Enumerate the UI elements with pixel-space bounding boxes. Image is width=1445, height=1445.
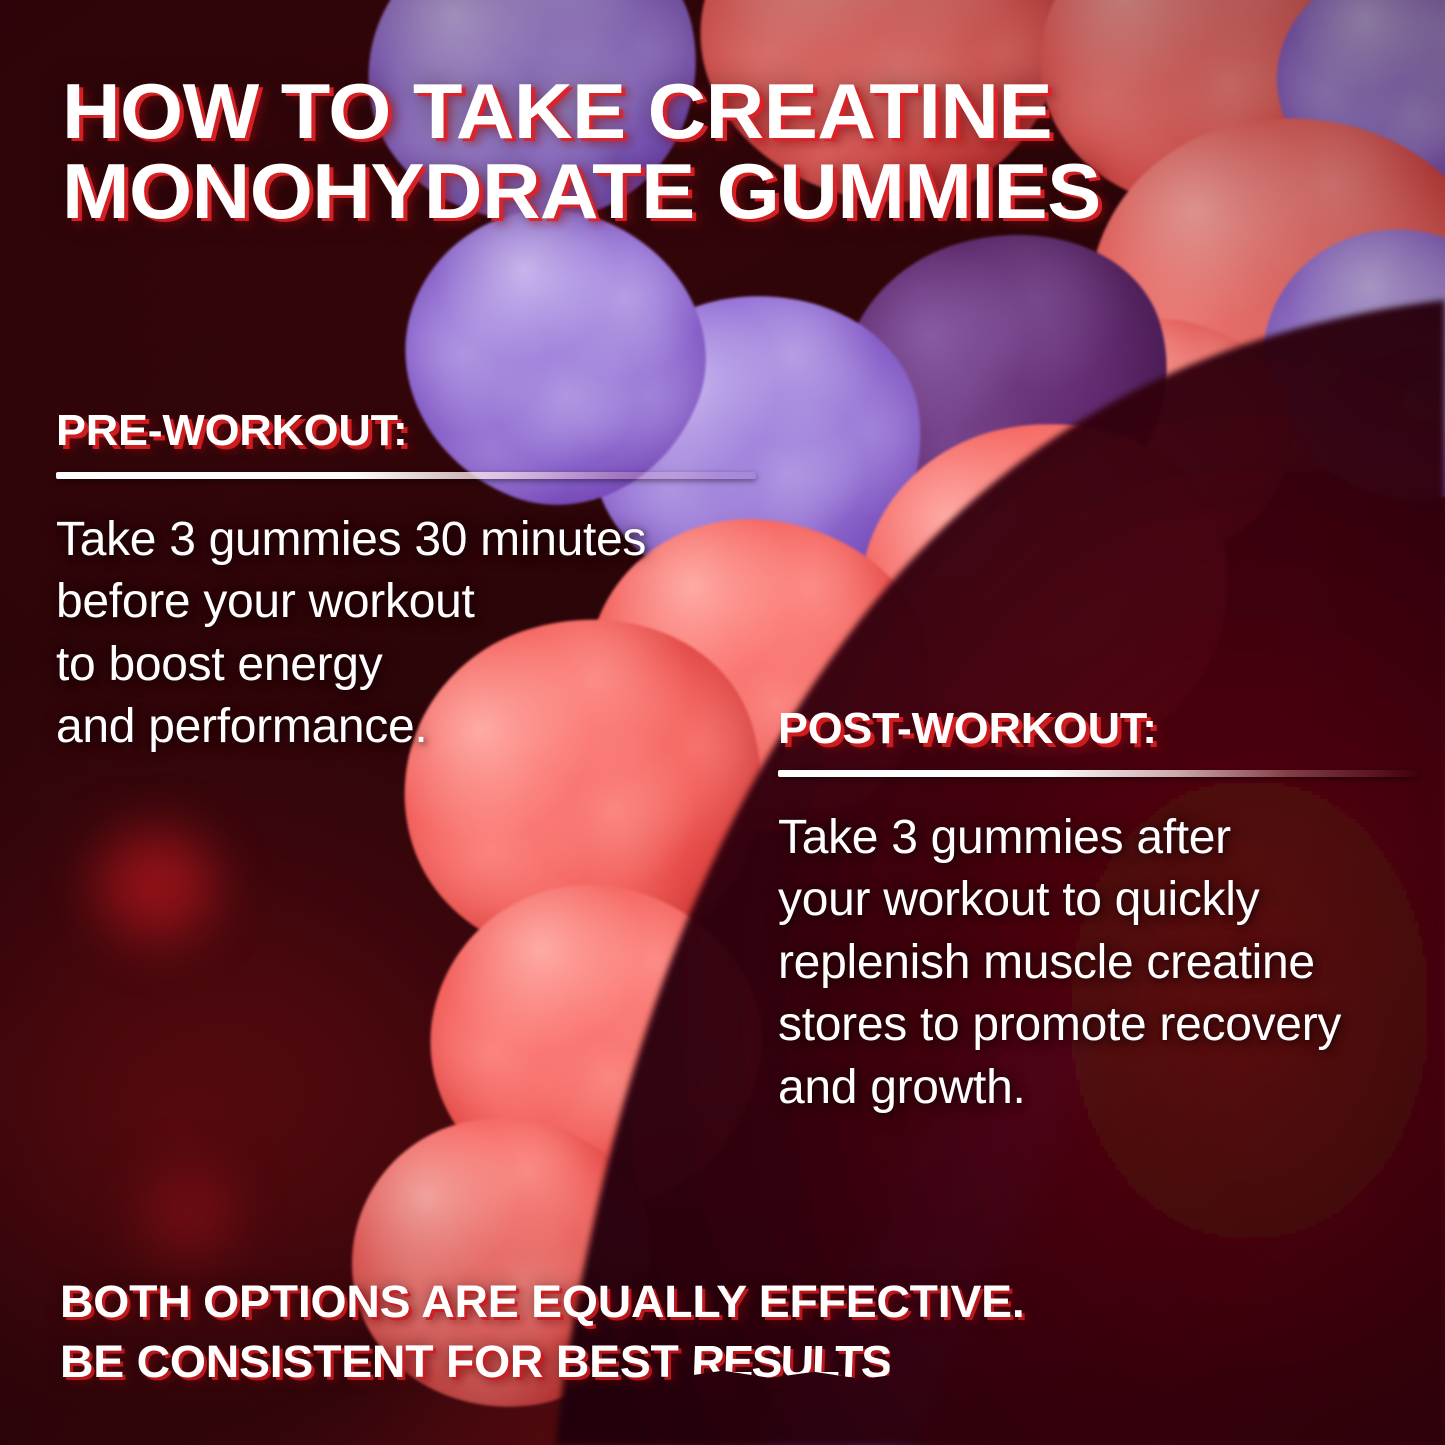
- content-layer: HOW TO TAKE CREATINE MONOHYDRATE GUMMIES…: [0, 0, 1445, 1445]
- footer-note: BOTH OPTIONS ARE EQUALLY EFFECTIVE. BE C…: [60, 1272, 1440, 1393]
- section-post-workout-heading: POST-WORKOUT:: [778, 704, 1431, 754]
- section-post-workout-divider: [778, 770, 1418, 777]
- footer-line-2-prefix: BE CONSISTENT FOR BEST: [60, 1336, 691, 1387]
- section-post-workout: POST-WORKOUT: Take 3 gummies after your …: [778, 704, 1418, 1119]
- section-post-workout-body: Take 3 gummies after your workout to qui…: [778, 807, 1418, 1119]
- section-pre-workout-body: Take 3 gummies 30 minutes before your wo…: [56, 509, 756, 759]
- page-title: HOW TO TAKE CREATINE MONOHYDRATE GUMMIES: [62, 72, 1435, 231]
- section-pre-workout: PRE-WORKOUT: Take 3 gummies 30 minutes b…: [56, 406, 756, 759]
- section-pre-workout-divider: [56, 472, 756, 479]
- footer-line-1: BOTH OPTIONS ARE EQUALLY EFFECTIVE.: [60, 1272, 1440, 1332]
- footer-glitch-word: RESULTS: [690, 1332, 891, 1392]
- creatine-gummies-infographic: HOW TO TAKE CREATINE MONOHYDRATE GUMMIES…: [0, 0, 1445, 1445]
- section-pre-workout-heading: PRE-WORKOUT:: [56, 406, 770, 456]
- footer-line-2: BE CONSISTENT FOR BEST RESULTS: [60, 1332, 1440, 1392]
